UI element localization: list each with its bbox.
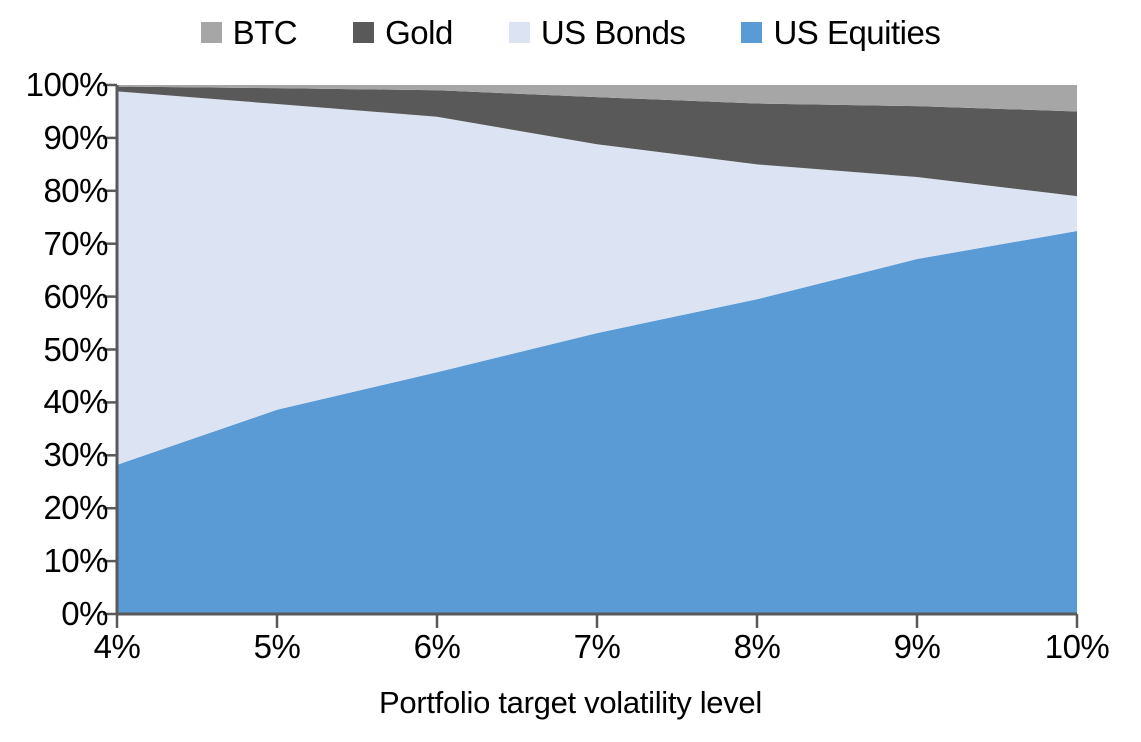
x-tick-label: 9% [847,630,987,663]
x-tick-label: 6% [367,630,507,663]
stacked-area-chart: BTC Gold US Bonds US Equities 100%90%80%… [0,0,1141,742]
x-tick-label: 4% [47,630,187,663]
x-tick-label: 7% [527,630,667,663]
x-tick-label: 8% [687,630,827,663]
x-tick-label: 10% [1007,630,1141,663]
x-axis-title: Portfolio target volatility level [0,686,1141,720]
x-tick-label: 5% [207,630,347,663]
x-axis-tick-labels: 4%5%6%7%8%9%10% [0,0,1141,742]
